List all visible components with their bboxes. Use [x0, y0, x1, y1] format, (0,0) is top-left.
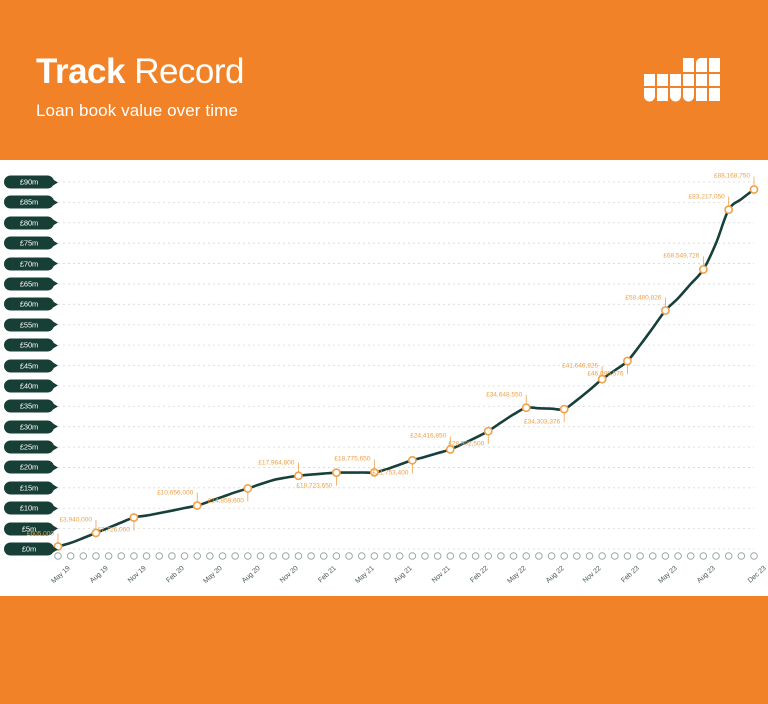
- y-axis-tick-label: £70m: [4, 257, 54, 270]
- y-axis-tick-label: £85m: [4, 196, 54, 209]
- footer-banner: [0, 596, 768, 704]
- x-axis-tick-dot: [447, 553, 454, 560]
- data-value-label: £3,940,000: [59, 516, 92, 523]
- x-axis-tick-dot: [118, 553, 125, 560]
- data-point-marker: [409, 457, 416, 464]
- x-axis-tick-dot: [434, 553, 441, 560]
- y-axis-tick-label: £35m: [4, 400, 54, 413]
- data-point-marker: [624, 357, 631, 364]
- x-axis-tick-dot: [510, 553, 517, 560]
- x-axis-tick-dot: [523, 553, 530, 560]
- y-axis-tick-label: £10m: [4, 502, 54, 515]
- x-axis-tick-dot: [751, 553, 758, 560]
- x-axis-tick-dot: [207, 553, 214, 560]
- data-value-label: £7,726,000: [97, 527, 130, 534]
- y-axis-tick-label: £25m: [4, 441, 54, 454]
- x-axis-tick-dot: [156, 553, 163, 560]
- x-axis-tick-dot: [257, 553, 264, 560]
- page-title: Track Record: [36, 52, 244, 92]
- x-axis-tick-dot: [80, 553, 87, 560]
- y-axis-tick-label: £80m: [4, 216, 54, 229]
- y-axis-tick-label: £20m: [4, 461, 54, 474]
- data-point-marker: [561, 406, 568, 413]
- x-axis-tick-dot: [346, 553, 353, 560]
- data-point-marker: [485, 428, 492, 435]
- data-value-label: £10,656,000: [157, 489, 193, 496]
- data-value-label: £18,775,650: [334, 456, 370, 463]
- y-axis-tick-label: £40m: [4, 379, 54, 392]
- data-point-marker: [662, 307, 669, 314]
- x-axis-tick-dot: [270, 553, 277, 560]
- x-axis-tick-dot: [460, 553, 467, 560]
- y-axis-tick-label: £15m: [4, 481, 54, 494]
- x-axis-tick-dot: [67, 553, 74, 560]
- data-point-marker: [725, 206, 732, 213]
- x-axis-tick-dot: [700, 553, 707, 560]
- data-value-label: £24,416,850: [410, 433, 446, 440]
- x-axis-tick-dot: [612, 553, 619, 560]
- data-value-label: £88,168,750: [714, 173, 750, 180]
- x-axis-tick-dot: [662, 553, 669, 560]
- x-axis-tick-dot: [55, 553, 62, 560]
- data-value-label: £605,000: [27, 530, 54, 537]
- x-axis-tick-dot: [536, 553, 543, 560]
- data-value-label: £18,723,650: [296, 482, 332, 489]
- data-value-label: £21,753,400: [372, 470, 408, 477]
- x-axis-tick-dot: [637, 553, 644, 560]
- x-axis-tick-dot: [320, 553, 327, 560]
- data-value-label: £68,549,726: [663, 253, 699, 260]
- x-axis-tick-dot: [232, 553, 239, 560]
- x-axis-tick-dot: [675, 553, 682, 560]
- x-axis-tick-dot: [308, 553, 315, 560]
- x-axis-tick-dot: [194, 553, 201, 560]
- x-axis-tick-dot: [485, 553, 492, 560]
- x-axis-tick-dot: [245, 553, 252, 560]
- x-axis-tick-dot: [725, 553, 732, 560]
- x-axis-tick-dot: [396, 553, 403, 560]
- page-subtitle: Loan book value over time: [36, 101, 244, 121]
- data-point-marker: [750, 186, 757, 193]
- data-point-marker: [700, 266, 707, 273]
- data-value-label: £41,646,926: [562, 363, 598, 370]
- company-logo: [639, 58, 723, 114]
- x-axis-tick-dot: [143, 553, 150, 560]
- x-tick-markers: [55, 553, 758, 560]
- y-axis-tick-label: £0m: [4, 543, 54, 556]
- data-point-marker: [295, 472, 302, 479]
- x-axis-tick-dot: [738, 553, 745, 560]
- y-axis-tick-label: £75m: [4, 237, 54, 250]
- x-axis-tick-dot: [371, 553, 378, 560]
- data-value-label: £28,902,500: [448, 441, 484, 448]
- header-banner: Track Record Loan book value over time: [0, 0, 768, 160]
- x-axis-tick-dot: [498, 553, 505, 560]
- x-axis-tick-dot: [295, 553, 302, 560]
- x-axis-tick-dot: [599, 553, 606, 560]
- data-value-label: £17,964,800: [258, 459, 294, 466]
- x-axis-tick-dot: [93, 553, 100, 560]
- x-axis-tick-dot: [687, 553, 694, 560]
- data-value-label: £34,303,376: [524, 419, 560, 426]
- x-axis-tick-dot: [586, 553, 593, 560]
- y-axis-tick-label: £60m: [4, 298, 54, 311]
- x-axis-tick-dot: [282, 553, 289, 560]
- data-value-label: £46,095,576: [587, 371, 623, 378]
- y-axis-tick-label: £90m: [4, 176, 54, 189]
- x-axis-tick-dot: [181, 553, 188, 560]
- y-axis-tick-label: £50m: [4, 339, 54, 352]
- x-axis-tick-dot: [333, 553, 340, 560]
- data-point-marker: [130, 514, 137, 521]
- y-axis-tick-label: £65m: [4, 277, 54, 290]
- x-axis-tick-dot: [131, 553, 138, 560]
- x-axis-tick-dot: [548, 553, 555, 560]
- data-point-marker: [523, 404, 530, 411]
- data-point-marker: [244, 485, 251, 492]
- x-axis-tick-dot: [472, 553, 479, 560]
- x-axis-tick-dot: [713, 553, 720, 560]
- x-axis-tick-dot: [649, 553, 656, 560]
- x-axis-tick-dot: [409, 553, 416, 560]
- x-axis-tick-dot: [574, 553, 581, 560]
- x-axis-tick-dot: [219, 553, 226, 560]
- x-axis-tick-dot: [105, 553, 112, 560]
- data-value-label: £58,480,826: [625, 294, 661, 301]
- page-title-bold: Track: [36, 52, 125, 91]
- x-axis-tick-dot: [624, 553, 631, 560]
- x-axis-tick-dot: [169, 553, 176, 560]
- data-point-marker: [194, 502, 201, 509]
- page-title-light: Record: [125, 52, 244, 91]
- x-axis-tick-dot: [358, 553, 365, 560]
- title-block: Track Record Loan book value over time: [36, 52, 244, 121]
- page-root: Track Record Loan book value over time: [0, 0, 768, 704]
- chart-canvas: £0m£5m£10m£15m£20m£25m£30m£35m£40m£45m£5…: [0, 160, 768, 596]
- x-axis-tick-dot: [384, 553, 391, 560]
- data-point-marker: [333, 469, 340, 476]
- x-axis-tick-dot: [422, 553, 429, 560]
- data-value-label: £83,217,050: [689, 193, 725, 200]
- data-value-label: £14,859,600: [208, 498, 244, 505]
- y-axis-tick-label: £30m: [4, 420, 54, 433]
- y-axis-tick-label: £55m: [4, 318, 54, 331]
- y-axis-tick-label: £45m: [4, 359, 54, 372]
- data-value-label: £34,648,550: [486, 391, 522, 398]
- x-axis-tick-dot: [561, 553, 568, 560]
